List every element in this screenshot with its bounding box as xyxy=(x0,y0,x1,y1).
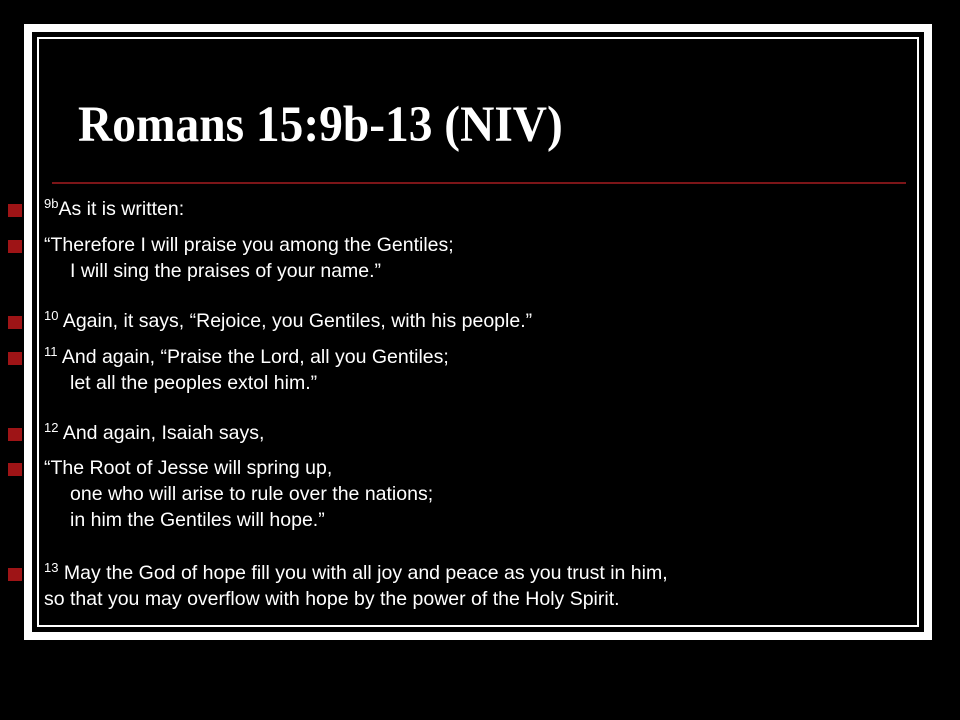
scripture-line: 11 And again, “Praise the Lord, all you … xyxy=(44,344,916,370)
scripture-line: 13 May the God of hope fill you with all… xyxy=(44,560,910,586)
scripture-text: And again, Isaiah says, xyxy=(63,422,265,444)
scripture-line: 10 Again, it says, “Rejoice, you Gentile… xyxy=(44,308,916,334)
scripture-text: As it is written: xyxy=(58,198,184,220)
scripture-paragraph: 11 And again, “Praise the Lord, all you … xyxy=(0,344,960,396)
verse-number: 11 xyxy=(44,344,58,359)
title-divider-rule xyxy=(52,182,906,184)
scripture-line: “Therefore I will praise you among the G… xyxy=(44,232,916,258)
verse-number: 12 xyxy=(44,420,58,435)
scripture-paragraph: 12 And again, Isaiah says, xyxy=(0,420,960,446)
slide-title: Romans 15:9b-13 (NIV) xyxy=(78,96,850,154)
scripture-text: Again, it says, “Rejoice, you Gentiles, … xyxy=(63,310,532,332)
scripture-line: in him the Gentiles will hope.” xyxy=(44,507,916,533)
scripture-line: 12 And again, Isaiah says, xyxy=(44,420,916,446)
scripture-line: one who will arise to rule over the nati… xyxy=(44,481,916,507)
verse-number: 10 xyxy=(44,308,58,323)
verse-number: 9b xyxy=(44,196,58,211)
scripture-line: let all the peoples extol him.” xyxy=(44,370,916,396)
scripture-line: so that you may overflow with hope by th… xyxy=(44,586,910,612)
scripture-line: 9bAs it is written: xyxy=(44,196,916,222)
scripture-line: I will sing the praises of your name.” xyxy=(44,258,916,284)
scripture-paragraph: 9bAs it is written: xyxy=(0,196,960,222)
scripture-paragraph: 10 Again, it says, “Rejoice, you Gentile… xyxy=(0,308,960,334)
scripture-paragraph: “Therefore I will praise you among the G… xyxy=(0,232,960,284)
scripture-paragraph: “The Root of Jesse will spring up, one w… xyxy=(0,455,960,533)
slide-body: 9bAs it is written: “Therefore I will pr… xyxy=(0,196,960,636)
scripture-text: And again, “Praise the Lord, all you Gen… xyxy=(62,346,449,368)
scripture-line: “The Root of Jesse will spring up, xyxy=(44,455,916,481)
slide-canvas: Romans 15:9b-13 (NIV) 9bAs it is written… xyxy=(0,0,960,720)
verse-number: 13 xyxy=(44,560,58,575)
scripture-paragraph: 13 May the God of hope fill you with all… xyxy=(0,560,960,612)
scripture-text: May the God of hope fill you with all jo… xyxy=(64,562,668,584)
